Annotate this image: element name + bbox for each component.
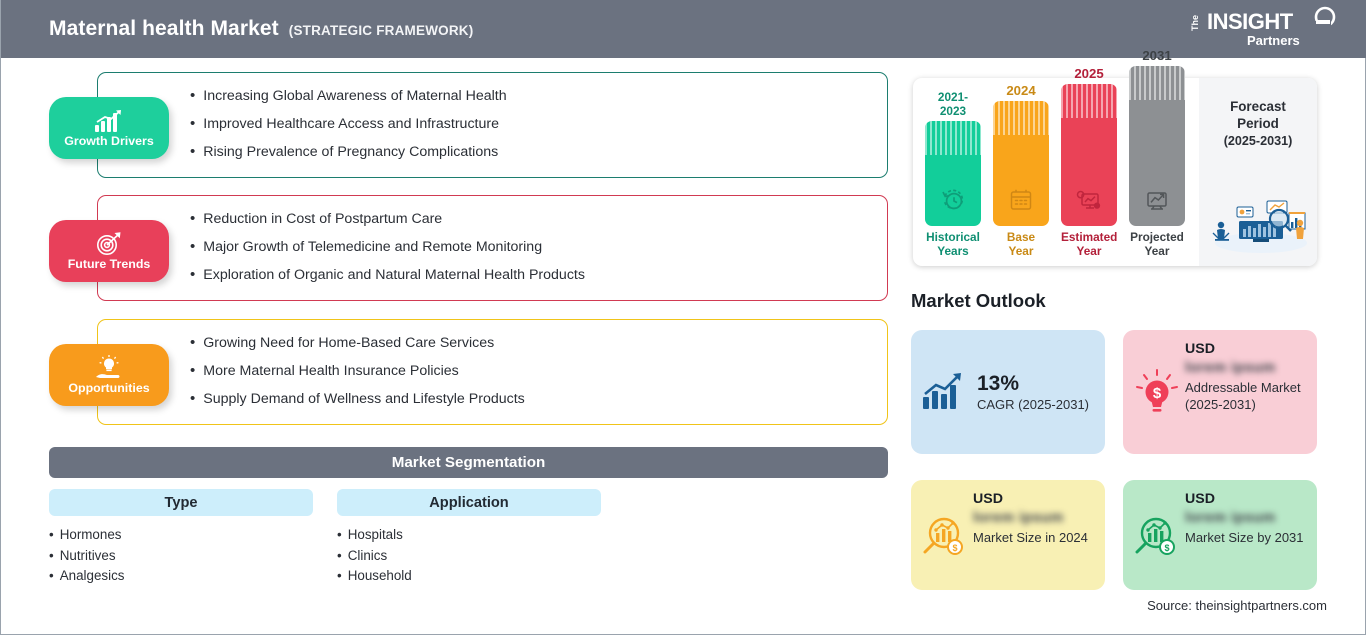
left-content-column: Increasing Global Awareness of Maternal …	[1, 58, 901, 635]
bar-body	[1061, 84, 1117, 226]
bar-stripe-overlay	[1061, 84, 1117, 118]
list-item: Growing Need for Home-Based Care Service…	[190, 329, 887, 357]
bar-body	[993, 101, 1049, 226]
timeline-bars: 2021-2023 Historical Years	[913, 78, 1199, 266]
market-value-redacted: lorem ipsum	[1185, 510, 1309, 526]
timeline-bar-estimated[interactable]: 2025 Estimated Year	[1061, 66, 1117, 258]
bar-year-label: 2024	[993, 83, 1049, 98]
market-segmentation-title: Market Segmentation	[392, 454, 546, 471]
segmentation-column-title: Type	[165, 495, 198, 511]
forecast-title-line1: Forecast	[1199, 98, 1317, 115]
cagr-value: 13%	[977, 372, 1089, 396]
clock-history-icon	[925, 188, 981, 212]
currency-label: USD	[1185, 341, 1309, 357]
list-item: Supply Demand of Wellness and Lifestyle …	[190, 385, 887, 413]
bar-category-label: Historical Years	[925, 231, 981, 258]
forecast-period-panel: Forecast Period (2025-2031)	[1199, 78, 1317, 266]
list-item: More Maternal Health Insurance Policies	[190, 357, 887, 385]
opportunities-bullets: Growing Need for Home-Based Care Service…	[98, 320, 887, 414]
bar-category-label: Projected Year	[1129, 231, 1185, 258]
timeline-bar-projected[interactable]: 2031 Projected Year	[1129, 48, 1185, 258]
svg-text:$: $	[1153, 385, 1162, 402]
list-item: Nutritives	[49, 546, 313, 567]
growth-drivers-bullets: Increasing Global Awareness of Maternal …	[98, 73, 887, 167]
currency-label: USD	[1185, 491, 1309, 507]
bar-stripe-overlay	[925, 121, 981, 155]
badge-opportunities[interactable]: Opportunities	[49, 344, 169, 406]
market-size-2024-text-group: USD lorem ipsum Market Size in 2024	[971, 491, 1097, 582]
list-item: Increasing Global Awareness of Maternal …	[190, 82, 887, 110]
segmentation-pill-type[interactable]: Type	[49, 489, 313, 516]
cagr-caption: CAGR (2025-2031)	[977, 396, 1089, 413]
bar-year-label: 2021-2023	[925, 90, 981, 118]
market-value-redacted: lorem ipsum	[1185, 360, 1309, 376]
outlook-card-addressable-market[interactable]: $ USD lorem ipsum Addressable Market (20…	[1123, 330, 1317, 454]
growth-drivers-panel: Increasing Global Awareness of Maternal …	[97, 72, 888, 178]
bar-category-label: Estimated Year	[1061, 231, 1117, 258]
source-attribution: Source: theinsightpartners.com	[1147, 598, 1327, 613]
segmentation-column-type: Type Hormones Nutritives Analgesics	[49, 489, 313, 587]
list-item: Household	[337, 566, 601, 587]
page-title: Maternal health Market	[49, 17, 279, 41]
list-item: Exploration of Organic and Natural Mater…	[190, 261, 887, 289]
list-item: Reduction in Cost of Postpartum Care	[190, 205, 887, 233]
segmentation-pill-application[interactable]: Application	[337, 489, 601, 516]
forecast-gear-chart-icon	[1061, 190, 1117, 212]
list-item: Clinics	[337, 546, 601, 567]
svg-text:INSIGHT: INSIGHT	[1207, 9, 1294, 34]
insight-partners-logo[interactable]: The INSIGHT Partners	[1185, 5, 1366, 54]
forecast-timeline-card: 2021-2023 Historical Years	[913, 78, 1317, 266]
bar-stripe-overlay	[993, 101, 1049, 135]
forecast-range: (2025-2031)	[1199, 134, 1317, 148]
market-size-2031-text-group: USD lorem ipsum Market Size by 2031	[1183, 491, 1309, 582]
header-title-group: Maternal health Market (STRATEGIC FRAMEW…	[1, 17, 473, 41]
badge-future-trends[interactable]: Future Trends	[49, 220, 169, 282]
badge-growth-drivers[interactable]: Growth Drivers	[49, 97, 169, 159]
list-item: Hormones	[49, 525, 313, 546]
card-caption: Market Size by 2031	[1185, 529, 1309, 546]
bar-year-label: 2031	[1129, 48, 1185, 63]
right-content-column: 2021-2023 Historical Years	[901, 58, 1366, 635]
magnifier-chart-dollar-icon: $	[1131, 491, 1183, 582]
lightbulb-hand-icon	[94, 355, 124, 380]
cagr-text-group: 13% CAGR (2025-2031)	[969, 372, 1089, 413]
list-item: Analgesics	[49, 566, 313, 587]
outlook-card-market-size-2024[interactable]: $ USD lorem ipsum Market Size in 2024	[911, 480, 1105, 590]
forecast-title-line2: Period	[1199, 115, 1317, 132]
outlook-card-cagr[interactable]: 13% CAGR (2025-2031)	[911, 330, 1105, 454]
growth-bar-chart-icon	[917, 372, 969, 412]
segmentation-column-title: Application	[429, 495, 508, 511]
addressable-market-text-group: USD lorem ipsum Addressable Market (2025…	[1183, 341, 1309, 446]
opportunities-panel: Growing Need for Home-Based Care Service…	[97, 319, 888, 425]
market-outlook-title: Market Outlook	[911, 290, 1046, 312]
segmentation-list-type: Hormones Nutritives Analgesics	[49, 525, 313, 587]
timeline-bar-historical[interactable]: 2021-2023 Historical Years	[925, 90, 981, 258]
svg-text:The: The	[1190, 14, 1200, 30]
list-item: Major Growth of Telemedicine and Remote …	[190, 233, 887, 261]
bar-stripe-overlay	[1129, 66, 1185, 100]
analytics-team-illustration	[1205, 193, 1311, 260]
svg-text:$: $	[952, 543, 957, 553]
outlook-card-market-size-2031[interactable]: $ USD lorem ipsum Market Size by 2031	[1123, 480, 1317, 590]
svg-text:Partners: Partners	[1247, 33, 1300, 48]
magnifier-chart-dollar-icon: $	[919, 491, 971, 582]
calendar-icon	[993, 188, 1049, 212]
svg-text:$: $	[1164, 543, 1169, 553]
card-caption: Market Size in 2024	[973, 529, 1097, 546]
bar-year-label: 2025	[1061, 66, 1117, 81]
badge-label: Future Trends	[68, 257, 151, 271]
list-item: Improved Healthcare Access and Infrastru…	[190, 110, 887, 138]
market-segmentation-header: Market Segmentation	[49, 447, 888, 478]
bar-body	[1129, 66, 1185, 226]
timeline-bar-base[interactable]: 2024 Base	[993, 83, 1049, 258]
segmentation-column-application: Application Hospitals Clinics Household	[337, 489, 601, 587]
market-value-redacted: lorem ipsum	[973, 510, 1097, 526]
segmentation-list-application: Hospitals Clinics Household	[337, 525, 601, 587]
list-item: Rising Prevalence of Pregnancy Complicat…	[190, 138, 887, 166]
card-caption: Addressable Market (2025-2031)	[1185, 379, 1309, 413]
badge-label: Opportunities	[68, 381, 149, 395]
badge-label: Growth Drivers	[64, 134, 154, 148]
future-trends-panel: Reduction in Cost of Postpartum Care Maj…	[97, 195, 888, 301]
growth-bar-chart-icon	[94, 108, 124, 133]
bar-body	[925, 121, 981, 226]
list-item: Hospitals	[337, 525, 601, 546]
bar-category-label: Base Year	[993, 231, 1049, 258]
lightbulb-dollar-icon: $	[1131, 341, 1183, 446]
target-arrow-icon	[95, 231, 123, 256]
page-subtitle: (STRATEGIC FRAMEWORK)	[289, 23, 474, 38]
monitor-chart-icon	[1129, 190, 1185, 212]
future-trends-bullets: Reduction in Cost of Postpartum Care Maj…	[98, 196, 887, 290]
currency-label: USD	[973, 491, 1097, 507]
